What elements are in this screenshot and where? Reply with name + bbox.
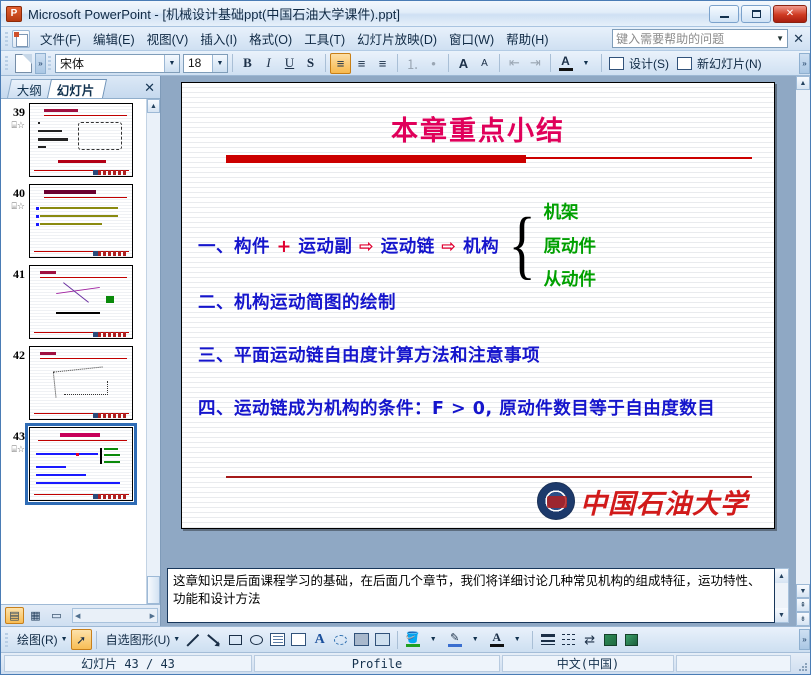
- align-center-button[interactable]: ≡: [351, 53, 372, 74]
- list-item[interactable]: 40 ⌸☆: [3, 184, 144, 258]
- insert-wordart-button[interactable]: A: [309, 629, 330, 650]
- picture-button[interactable]: [372, 629, 393, 650]
- previous-slide-button[interactable]: ⇞: [796, 598, 810, 612]
- line-style-button[interactable]: [537, 629, 558, 650]
- work-area: 大纲 幻灯片 ✕ 39 ⌸☆: [1, 76, 810, 626]
- increase-indent-button[interactable]: ⇥: [525, 53, 546, 74]
- line1-plus: +: [270, 237, 298, 257]
- brace-item-follower: 从动件: [544, 266, 597, 291]
- align-left-button[interactable]: ≡: [330, 53, 351, 74]
- fill-color-dropdown[interactable]: ▼: [423, 629, 444, 650]
- design-icon: [609, 57, 624, 70]
- fill-color-icon: 🪣: [406, 633, 420, 643]
- minimize-icon: [720, 16, 729, 18]
- formatting-toolbar: » 宋体 ▼ 18 ▼ B I U S ≡ ≡ ≡ ⒈ • A A ⇤ ⇥ A …: [1, 51, 810, 76]
- oval-button[interactable]: [246, 629, 267, 650]
- slide-number: 39: [3, 105, 25, 120]
- transition-star-icon[interactable]: ⌸☆: [3, 444, 25, 454]
- notes-pane: 这章知识是后面课程学习的基础，在后面几个章节，我们将详细讨论几种常见机构的组成特…: [167, 564, 789, 626]
- font-color-swatch: [490, 644, 504, 647]
- line1-mid1: 运动副: [298, 237, 352, 257]
- body-line-1[interactable]: 一、构件 + 运动副 ⇨ 运动链 ⇨ 机构 { 机架 原动件 从动件: [198, 195, 764, 295]
- thumb-meta: 42: [3, 346, 29, 420]
- menu-item-insert[interactable]: 插入(I): [194, 26, 243, 51]
- dash-style-button[interactable]: [558, 629, 579, 650]
- tab-slides[interactable]: 幻灯片: [47, 79, 107, 98]
- help-search-input[interactable]: 键入需要帮助的问题 ▼: [612, 29, 788, 48]
- increase-font-size-button[interactable]: A: [453, 53, 474, 74]
- help-placeholder: 键入需要帮助的问题: [616, 30, 776, 47]
- line-color-swatch: [448, 644, 462, 647]
- scroll-track[interactable]: [796, 90, 810, 584]
- new-document-button[interactable]: [12, 53, 35, 74]
- font-color-letter: A: [492, 632, 501, 643]
- fill-color-swatch: [406, 644, 420, 647]
- new-slide-label: 新幻灯片(N): [695, 55, 764, 72]
- body-line-3[interactable]: 三、平面运动链自由度计算方法和注意事项: [198, 342, 764, 367]
- thumb-meta: 41: [3, 265, 29, 339]
- design-button[interactable]: 设计(S): [606, 53, 674, 74]
- notes-scrollbar[interactable]: ▲ ▼: [775, 568, 789, 623]
- title-bar: P Microsoft PowerPoint - [机械设计基础ppt(中国石油…: [1, 1, 810, 27]
- thumbnail-logo: [93, 170, 127, 175]
- transition-star-icon[interactable]: ⌸☆: [3, 201, 25, 211]
- pane-tab-strip: 大纲 幻灯片 ✕: [1, 76, 160, 98]
- line1-arrow1: ⇨: [352, 237, 380, 257]
- toolbar-separator: [448, 54, 449, 72]
- toolbar-separator: [601, 54, 602, 72]
- scroll-track[interactable]: [147, 113, 160, 576]
- brace-item-frame: 机架: [544, 199, 597, 224]
- line1-arrow2: ⇨: [435, 237, 463, 257]
- chevron-down-icon[interactable]: ▼: [212, 55, 227, 72]
- brace-item-driver: 原动件: [544, 233, 597, 258]
- list-item[interactable]: 43 ⌸☆: [3, 427, 144, 501]
- transition-star-icon[interactable]: ⌸☆: [3, 120, 25, 130]
- next-slide-button[interactable]: ⇟: [796, 612, 810, 626]
- line1-mid3: 机构: [463, 237, 499, 257]
- document-control-icon[interactable]: [12, 30, 30, 48]
- help-area: 键入需要帮助的问题 ▼ ✕: [612, 29, 810, 48]
- toolbar-overflow-2[interactable]: »: [799, 53, 810, 74]
- diagram-icon: [334, 635, 347, 645]
- clipart-button[interactable]: [351, 629, 372, 650]
- clipart-icon: [354, 633, 369, 646]
- slide-thumbnail[interactable]: [29, 184, 133, 258]
- new-slide-button[interactable]: 新幻灯片(N): [674, 53, 767, 74]
- diagram-button[interactable]: [330, 629, 351, 650]
- slide-number: 41: [3, 267, 25, 282]
- 3d-style-button[interactable]: [621, 629, 642, 650]
- dash-style-icon: [562, 634, 576, 645]
- line-color-button[interactable]: ✎: [444, 629, 465, 650]
- line1-mid2: 运动链: [381, 237, 435, 257]
- scroll-right-icon[interactable]: ▶: [148, 612, 157, 620]
- list-item[interactable]: 39 ⌸☆: [3, 103, 144, 177]
- slide-thumbnail[interactable]: [29, 346, 133, 420]
- numbered-list-button[interactable]: ⒈: [402, 53, 423, 74]
- draw-menu-label: 绘图(R): [15, 631, 60, 648]
- picture-icon: [375, 633, 390, 646]
- arrow-icon: [208, 633, 222, 647]
- maximize-button[interactable]: [741, 5, 771, 23]
- drawing-toolbar: 绘图(R) ▼ ➚ 自选图形(U) ▼ A 🪣 ▼ ✎ ▼: [1, 626, 810, 652]
- chevron-down-icon: ▼: [172, 636, 180, 643]
- footer-rule: [226, 476, 752, 478]
- current-slide[interactable]: 本章重点小结 一、构件 + 运动副 ⇨ 运动链 ⇨ 机构 { 机架: [181, 82, 775, 529]
- design-template-name[interactable]: Profile: [254, 655, 500, 672]
- horizontal-scrollbar[interactable]: ◀ ▶: [72, 608, 158, 623]
- thumbnail-scrollbar[interactable]: ▲: [146, 99, 160, 604]
- status-spare-cell: [676, 655, 791, 672]
- thumbnail-list[interactable]: 39 ⌸☆: [1, 99, 146, 604]
- autoshapes-label: 自选图形(U): [104, 631, 173, 648]
- textbox-button[interactable]: [267, 629, 288, 650]
- font-color-dropdown-draw[interactable]: ▼: [507, 629, 528, 650]
- chevron-down-icon[interactable]: ▼: [164, 55, 179, 72]
- menu-item-window[interactable]: 窗口(W): [443, 26, 500, 51]
- menu-item-view[interactable]: 视图(V): [141, 26, 195, 51]
- slide-number: 40: [3, 186, 25, 201]
- thumbnail-logo: [93, 332, 127, 337]
- decrease-indent-button[interactable]: ⇤: [504, 53, 525, 74]
- bulleted-list-button[interactable]: •: [423, 53, 444, 74]
- font-size-combo[interactable]: 18 ▼: [183, 54, 228, 73]
- university-logo-text: 中国石油大学: [580, 482, 748, 521]
- body-line-4[interactable]: 四、运动链成为机构的条件：F > 0, 原动件数目等于自由度数目: [198, 395, 764, 420]
- line-color-icon: ✎: [450, 633, 459, 643]
- close-menubar-icon[interactable]: ✕: [791, 31, 806, 47]
- powerpoint-window: P Microsoft PowerPoint - [机械设计基础ppt(中国石油…: [0, 0, 811, 675]
- line-color-dropdown[interactable]: ▼: [465, 629, 486, 650]
- scroll-down-icon[interactable]: ▼: [796, 584, 810, 598]
- arrow-button[interactable]: [204, 629, 225, 650]
- line-style-icon: [541, 634, 555, 645]
- rectangle-button[interactable]: [225, 629, 246, 650]
- drawbar-overflow[interactable]: »: [799, 629, 810, 650]
- normal-view-button[interactable]: ▤: [5, 607, 24, 624]
- drawbar-grip[interactable]: [3, 631, 10, 649]
- font-color-button[interactable]: A: [555, 53, 576, 74]
- thumbnail-logo: [93, 251, 127, 256]
- body-line-1-text: 一、构件 + 运动副 ⇨ 运动链 ⇨ 机构: [198, 233, 499, 258]
- arrow-style-icon: ⇄: [584, 632, 595, 648]
- arrow-style-button[interactable]: ⇄: [579, 629, 600, 650]
- 3d-style-icon: [625, 634, 638, 646]
- font-color-dropdown[interactable]: ▼: [576, 53, 597, 74]
- status-bar: 幻灯片 43 / 43 Profile 中文(中国): [1, 652, 810, 674]
- bold-button[interactable]: B: [237, 53, 258, 74]
- rectangle-icon: [229, 635, 242, 645]
- textbox-icon: [270, 633, 285, 646]
- line-icon: [187, 633, 201, 647]
- language-indicator[interactable]: 中文(中国): [502, 655, 674, 672]
- thumbnail-logo: [93, 494, 127, 499]
- align-right-button[interactable]: ≡: [372, 53, 393, 74]
- slide-title[interactable]: 本章重点小结: [182, 109, 774, 148]
- wordart-button[interactable]: [288, 629, 309, 650]
- new-document-icon: [15, 54, 32, 73]
- menu-item-file[interactable]: 文件(F): [34, 26, 87, 51]
- resize-grip-icon[interactable]: [793, 657, 807, 671]
- design-label: 设计(S): [627, 55, 671, 72]
- toolbar-overflow-1[interactable]: »: [35, 53, 46, 74]
- list-item[interactable]: 41: [3, 265, 144, 339]
- line1-prefix: 一、构件: [198, 237, 270, 257]
- font-name-value: 宋体: [60, 55, 164, 72]
- slide-counter: 幻灯片 43 / 43: [4, 655, 252, 672]
- slide-body[interactable]: 一、构件 + 运动副 ⇨ 运动链 ⇨ 机构 { 机架 原动件 从动件: [198, 195, 764, 420]
- tab-outline-label: 大纲: [17, 80, 42, 99]
- toolbar-grip-2[interactable]: [46, 54, 53, 72]
- list-item[interactable]: 42: [3, 346, 144, 420]
- maximize-icon: [752, 10, 761, 18]
- thumb-meta: 40 ⌸☆: [3, 184, 29, 258]
- font-color-letter: A: [561, 56, 570, 67]
- drawbar-separator: [532, 631, 533, 649]
- title-underline-thick: [226, 155, 526, 163]
- scroll-up-icon[interactable]: ▲: [796, 76, 810, 90]
- university-logo: 中国石油大学: [537, 480, 748, 522]
- thumb-meta: 39 ⌸☆: [3, 103, 29, 177]
- shadow-style-icon: [604, 634, 617, 646]
- toolbar-separator: [550, 54, 551, 72]
- slide-thumbnail[interactable]: [29, 265, 133, 339]
- powerpoint-logo-icon: P: [6, 6, 22, 22]
- line-button[interactable]: [183, 629, 204, 650]
- scroll-up-icon[interactable]: ▲: [147, 99, 160, 113]
- scroll-up-icon[interactable]: ▲: [775, 569, 788, 583]
- shadow-style-button[interactable]: [600, 629, 621, 650]
- slide-number: 42: [3, 348, 25, 363]
- slide-vertical-scrollbar[interactable]: ▲ ▼ ⇞ ⇟: [795, 76, 810, 626]
- notes-text[interactable]: 这章知识是后面课程学习的基础，在后面几个章节，我们将详细讨论几种常见机构的组成特…: [167, 568, 775, 623]
- wordart-icon: [291, 633, 306, 646]
- drawbar-separator: [397, 631, 398, 649]
- font-color-swatch: [559, 68, 573, 71]
- chevron-down-icon: ▼: [60, 636, 68, 643]
- text-shadow-button[interactable]: S: [300, 53, 321, 74]
- slide-show-view-button[interactable]: ▭: [47, 607, 66, 624]
- draw-menu-button[interactable]: 绘图(R) ▼: [12, 629, 71, 650]
- university-emblem-icon: [537, 482, 575, 520]
- toolbar-separator: [232, 54, 233, 72]
- brace-item-list: 机架 原动件 从动件: [544, 199, 597, 291]
- toolbar-separator: [499, 54, 500, 72]
- menu-item-tools[interactable]: 工具(T): [298, 26, 351, 51]
- drawbar-separator: [96, 631, 97, 649]
- font-name-combo[interactable]: 宋体 ▼: [55, 54, 180, 73]
- oval-icon: [250, 635, 263, 645]
- toolbar-separator: [397, 54, 398, 72]
- view-button-bar: ▤ ▦ ▭ ◀ ▶: [1, 604, 160, 626]
- brace-group: { 机架 原动件 从动件: [504, 199, 596, 291]
- scroll-thumb[interactable]: [147, 576, 160, 604]
- thumbnail-logo: [93, 413, 127, 418]
- menu-item-help[interactable]: 帮助(H): [500, 26, 554, 51]
- menu-item-slideshow[interactable]: 幻灯片放映(D): [351, 26, 443, 51]
- thumb-meta: 43 ⌸☆: [3, 427, 29, 501]
- window-controls: ✕: [709, 5, 807, 23]
- toolbar-grip-1[interactable]: [3, 54, 10, 72]
- menu-item-edit[interactable]: 编辑(E): [87, 26, 141, 51]
- chevron-down-icon[interactable]: ▼: [776, 34, 784, 43]
- slide-thumbnail-selected[interactable]: [29, 427, 133, 501]
- minimize-button[interactable]: [709, 5, 739, 23]
- thumbnail-scroll-region: 39 ⌸☆: [1, 98, 160, 604]
- tab-slides-label: 幻灯片: [57, 80, 95, 99]
- underline-button[interactable]: U: [279, 53, 300, 74]
- menubar-grip[interactable]: [3, 30, 10, 48]
- curly-brace-icon: {: [509, 217, 536, 274]
- scroll-left-icon[interactable]: ◀: [73, 612, 82, 620]
- close-button[interactable]: ✕: [773, 5, 807, 23]
- slide-sorter-view-button[interactable]: ▦: [26, 607, 45, 624]
- slide-number: 43: [3, 429, 25, 444]
- slides-outline-pane: 大纲 幻灯片 ✕ 39 ⌸☆: [1, 76, 161, 626]
- menu-item-format[interactable]: 格式(O): [243, 26, 298, 51]
- new-slide-icon: [677, 57, 692, 70]
- window-title: Microsoft PowerPoint - [机械设计基础ppt(中国石油大学…: [28, 4, 709, 23]
- slide-thumbnail[interactable]: [29, 103, 133, 177]
- slide-and-notes-pane: 本章重点小结 一、构件 + 运动副 ⇨ 运动链 ⇨ 机构 { 机架: [161, 76, 795, 626]
- font-color-button-draw[interactable]: A: [486, 629, 507, 650]
- close-pane-icon[interactable]: ✕: [144, 80, 155, 98]
- select-objects-button[interactable]: ➚: [71, 629, 92, 650]
- decrease-font-size-button[interactable]: A: [474, 53, 495, 74]
- fill-color-button[interactable]: 🪣: [402, 629, 423, 650]
- italic-button[interactable]: I: [258, 53, 279, 74]
- menu-bar: 文件(F) 编辑(E) 视图(V) 插入(I) 格式(O) 工具(T) 幻灯片放…: [1, 27, 810, 51]
- toolbar-separator: [325, 54, 326, 72]
- scroll-down-icon[interactable]: ▼: [775, 608, 788, 622]
- autoshapes-menu-button[interactable]: 自选图形(U) ▼: [101, 629, 184, 650]
- slide-editing-area: 本章重点小结 一、构件 + 运动副 ⇨ 运动链 ⇨ 机构 { 机架: [167, 82, 789, 564]
- font-size-value: 18: [188, 56, 212, 70]
